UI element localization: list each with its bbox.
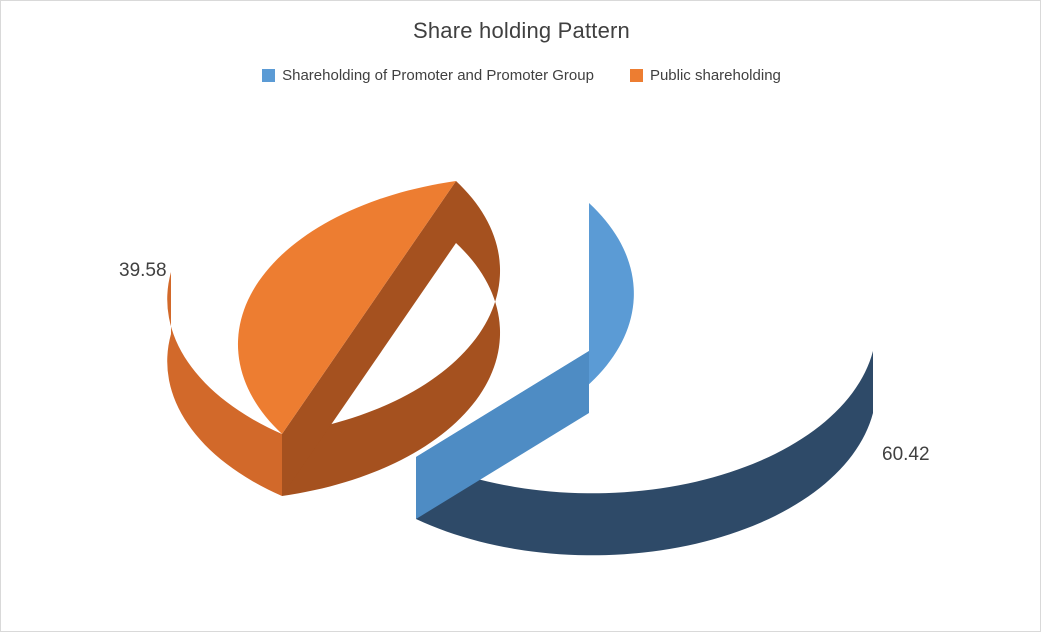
- data-label-promoter: 60.42: [882, 444, 930, 466]
- data-label-public: 39.58: [119, 260, 167, 282]
- pie-chart-graphic: [1, 1, 1041, 632]
- chart-container: Share holding Pattern Shareholding of Pr…: [0, 0, 1041, 632]
